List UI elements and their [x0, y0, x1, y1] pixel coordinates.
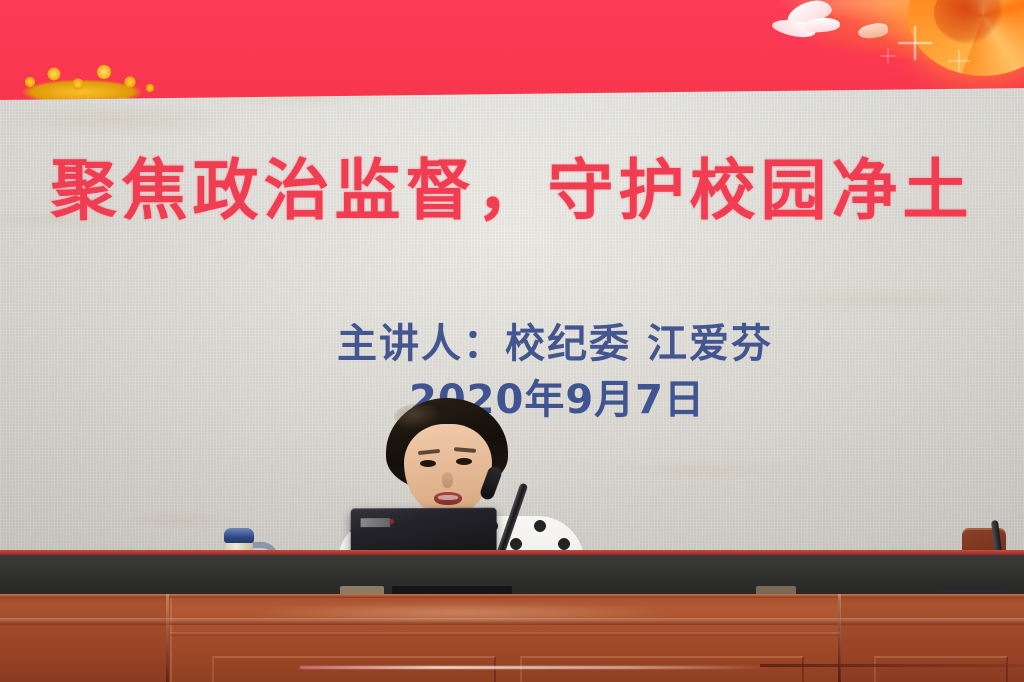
podium-panel: [874, 656, 1008, 682]
podium-panel: [520, 656, 804, 682]
small-bird-body: [857, 22, 889, 41]
sparkle-icon: [898, 26, 932, 60]
podium-panel: [212, 656, 496, 682]
podium-seam: [838, 594, 841, 682]
slide-title: 聚焦政治监督，守护校园净土: [0, 158, 1024, 224]
podium-molding-secondary: [170, 632, 840, 636]
podium-highlight-line: [300, 666, 770, 669]
gold-filigree-ornament-icon: [8, 52, 168, 102]
speaker-eye-right: [456, 458, 472, 465]
sparkle-icon: [880, 48, 896, 64]
screenshot-root: 聚焦政治监督，守护校园净土 主讲人：校纪委 江爱芬 2020年9月7日 江爱芬: [0, 0, 1024, 682]
podium-seam: [166, 594, 169, 682]
podium-dark-line: [760, 664, 1024, 667]
speaker-eye-left: [420, 460, 436, 467]
speaker-nose: [442, 472, 453, 488]
slide-subtitle: 主讲人：校纪委 江爱芬: [0, 322, 1024, 368]
thinkpad-logo-icon: [361, 518, 391, 527]
speaker-mouth: [434, 492, 462, 505]
red-header-banner: [0, 0, 1024, 100]
podium-molding: [0, 618, 1024, 625]
podium-top-edge: [0, 594, 1024, 598]
bottle-cap: [224, 528, 254, 543]
sparkle-icon: [948, 50, 970, 72]
peace-dove-icon: [770, 2, 846, 46]
small-bird-icon: [858, 24, 888, 38]
